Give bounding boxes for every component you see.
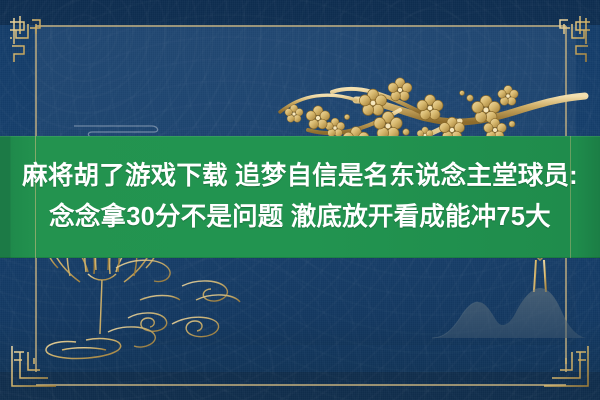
article-banner: 麻将胡了游戏下载 追梦自信是名东说念主堂球员: 念念拿30分不是问题 澈底放开看… bbox=[0, 0, 600, 400]
headline-line-1: 麻将胡了游戏下载 追梦自信是名东说念主堂球员: bbox=[22, 156, 578, 197]
headline-text: 麻将胡了游戏下载 追梦自信是名东说念主堂球员: 念念拿30分不是问题 澈底放开看… bbox=[22, 156, 578, 238]
headline-band: 麻将胡了游戏下载 追梦自信是名东说念主堂球员: 念念拿30分不是问题 澈底放开看… bbox=[0, 136, 600, 258]
headline-line-2: 念念拿30分不是问题 澈底放开看成能冲75大 bbox=[22, 197, 578, 238]
